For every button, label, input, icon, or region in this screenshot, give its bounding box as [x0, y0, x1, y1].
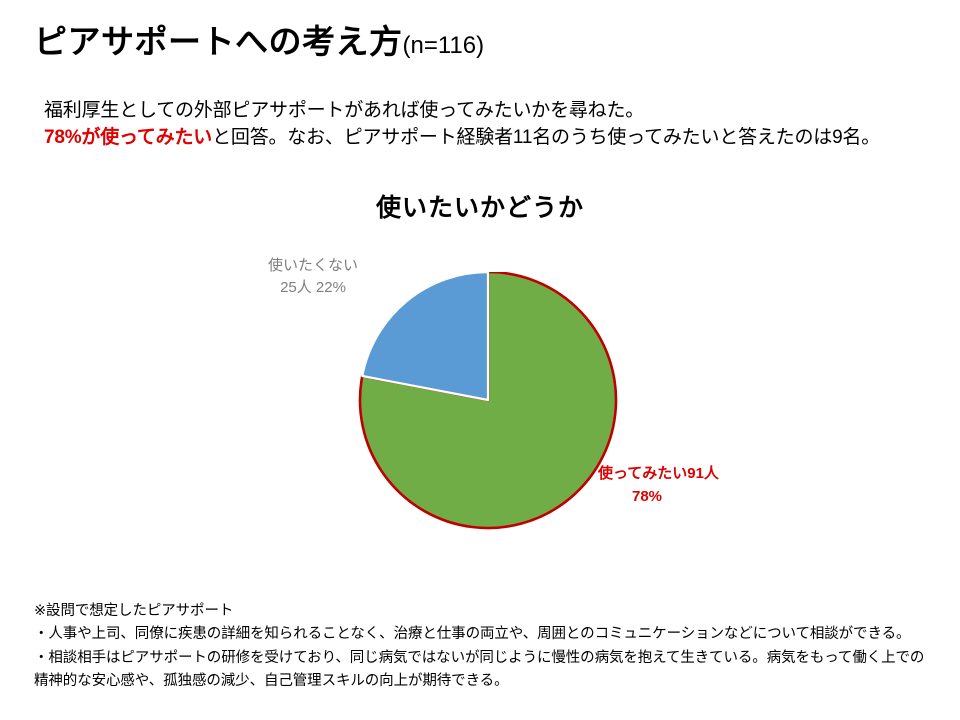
- slide-canvas: ピアサポートへの考え方(n=116) 福利厚生としての外部ピアサポートがあれば使…: [0, 0, 960, 720]
- pie-label-use-not-line2: 25人 22%: [280, 279, 346, 296]
- lead-paragraph: 福利厚生としての外部ピアサポートがあれば使ってみたいかを尋ねた。 78%が使って…: [44, 98, 934, 152]
- page-title-sample-size: (n=116): [403, 32, 485, 59]
- footnote-line-3: ・相談相手はピアサポートの研修を受けており、同じ病気ではないが同じように慢性の病…: [34, 647, 944, 670]
- pie-graphic: [345, 272, 635, 542]
- lead-highlight: 78%が使ってみたい: [44, 127, 212, 148]
- footnote-line-1: ※設問で想定したピアサポート: [34, 600, 944, 623]
- lead-line-2-rest: と回答。なお、ピアサポート経験者11名のうち使ってみたいと答えたのは9名。: [212, 127, 880, 148]
- page-title: ピアサポートへの考え方(n=116): [34, 24, 484, 60]
- footnote-line-2: ・人事や上司、同僚に疾患の詳細を知られることなく、治療と仕事の両立や、周囲とのコ…: [34, 623, 944, 646]
- pie-chart: 使いたいかどうか 使いたくない 25人 22% 使ってみたい91人 78%: [0, 180, 960, 560]
- footnote-line-4: 精神的な安心感や、孤独感の減少、自己管理スキルの向上が期待できる。: [34, 670, 944, 693]
- page-title-main: ピアサポートへの考え方: [34, 23, 403, 60]
- pie-svg: [345, 272, 635, 542]
- footnote-block: ※設問で想定したピアサポート ・人事や上司、同僚に疾患の詳細を知られることなく、…: [34, 600, 944, 694]
- lead-line-2: 78%が使ってみたいと回答。なお、ピアサポート経験者11名のうち使ってみたいと答…: [44, 125, 934, 152]
- lead-line-1: 福利厚生としての外部ピアサポートがあれば使ってみたいかを尋ねた。: [44, 98, 934, 125]
- chart-title: 使いたいかどうか: [0, 188, 960, 224]
